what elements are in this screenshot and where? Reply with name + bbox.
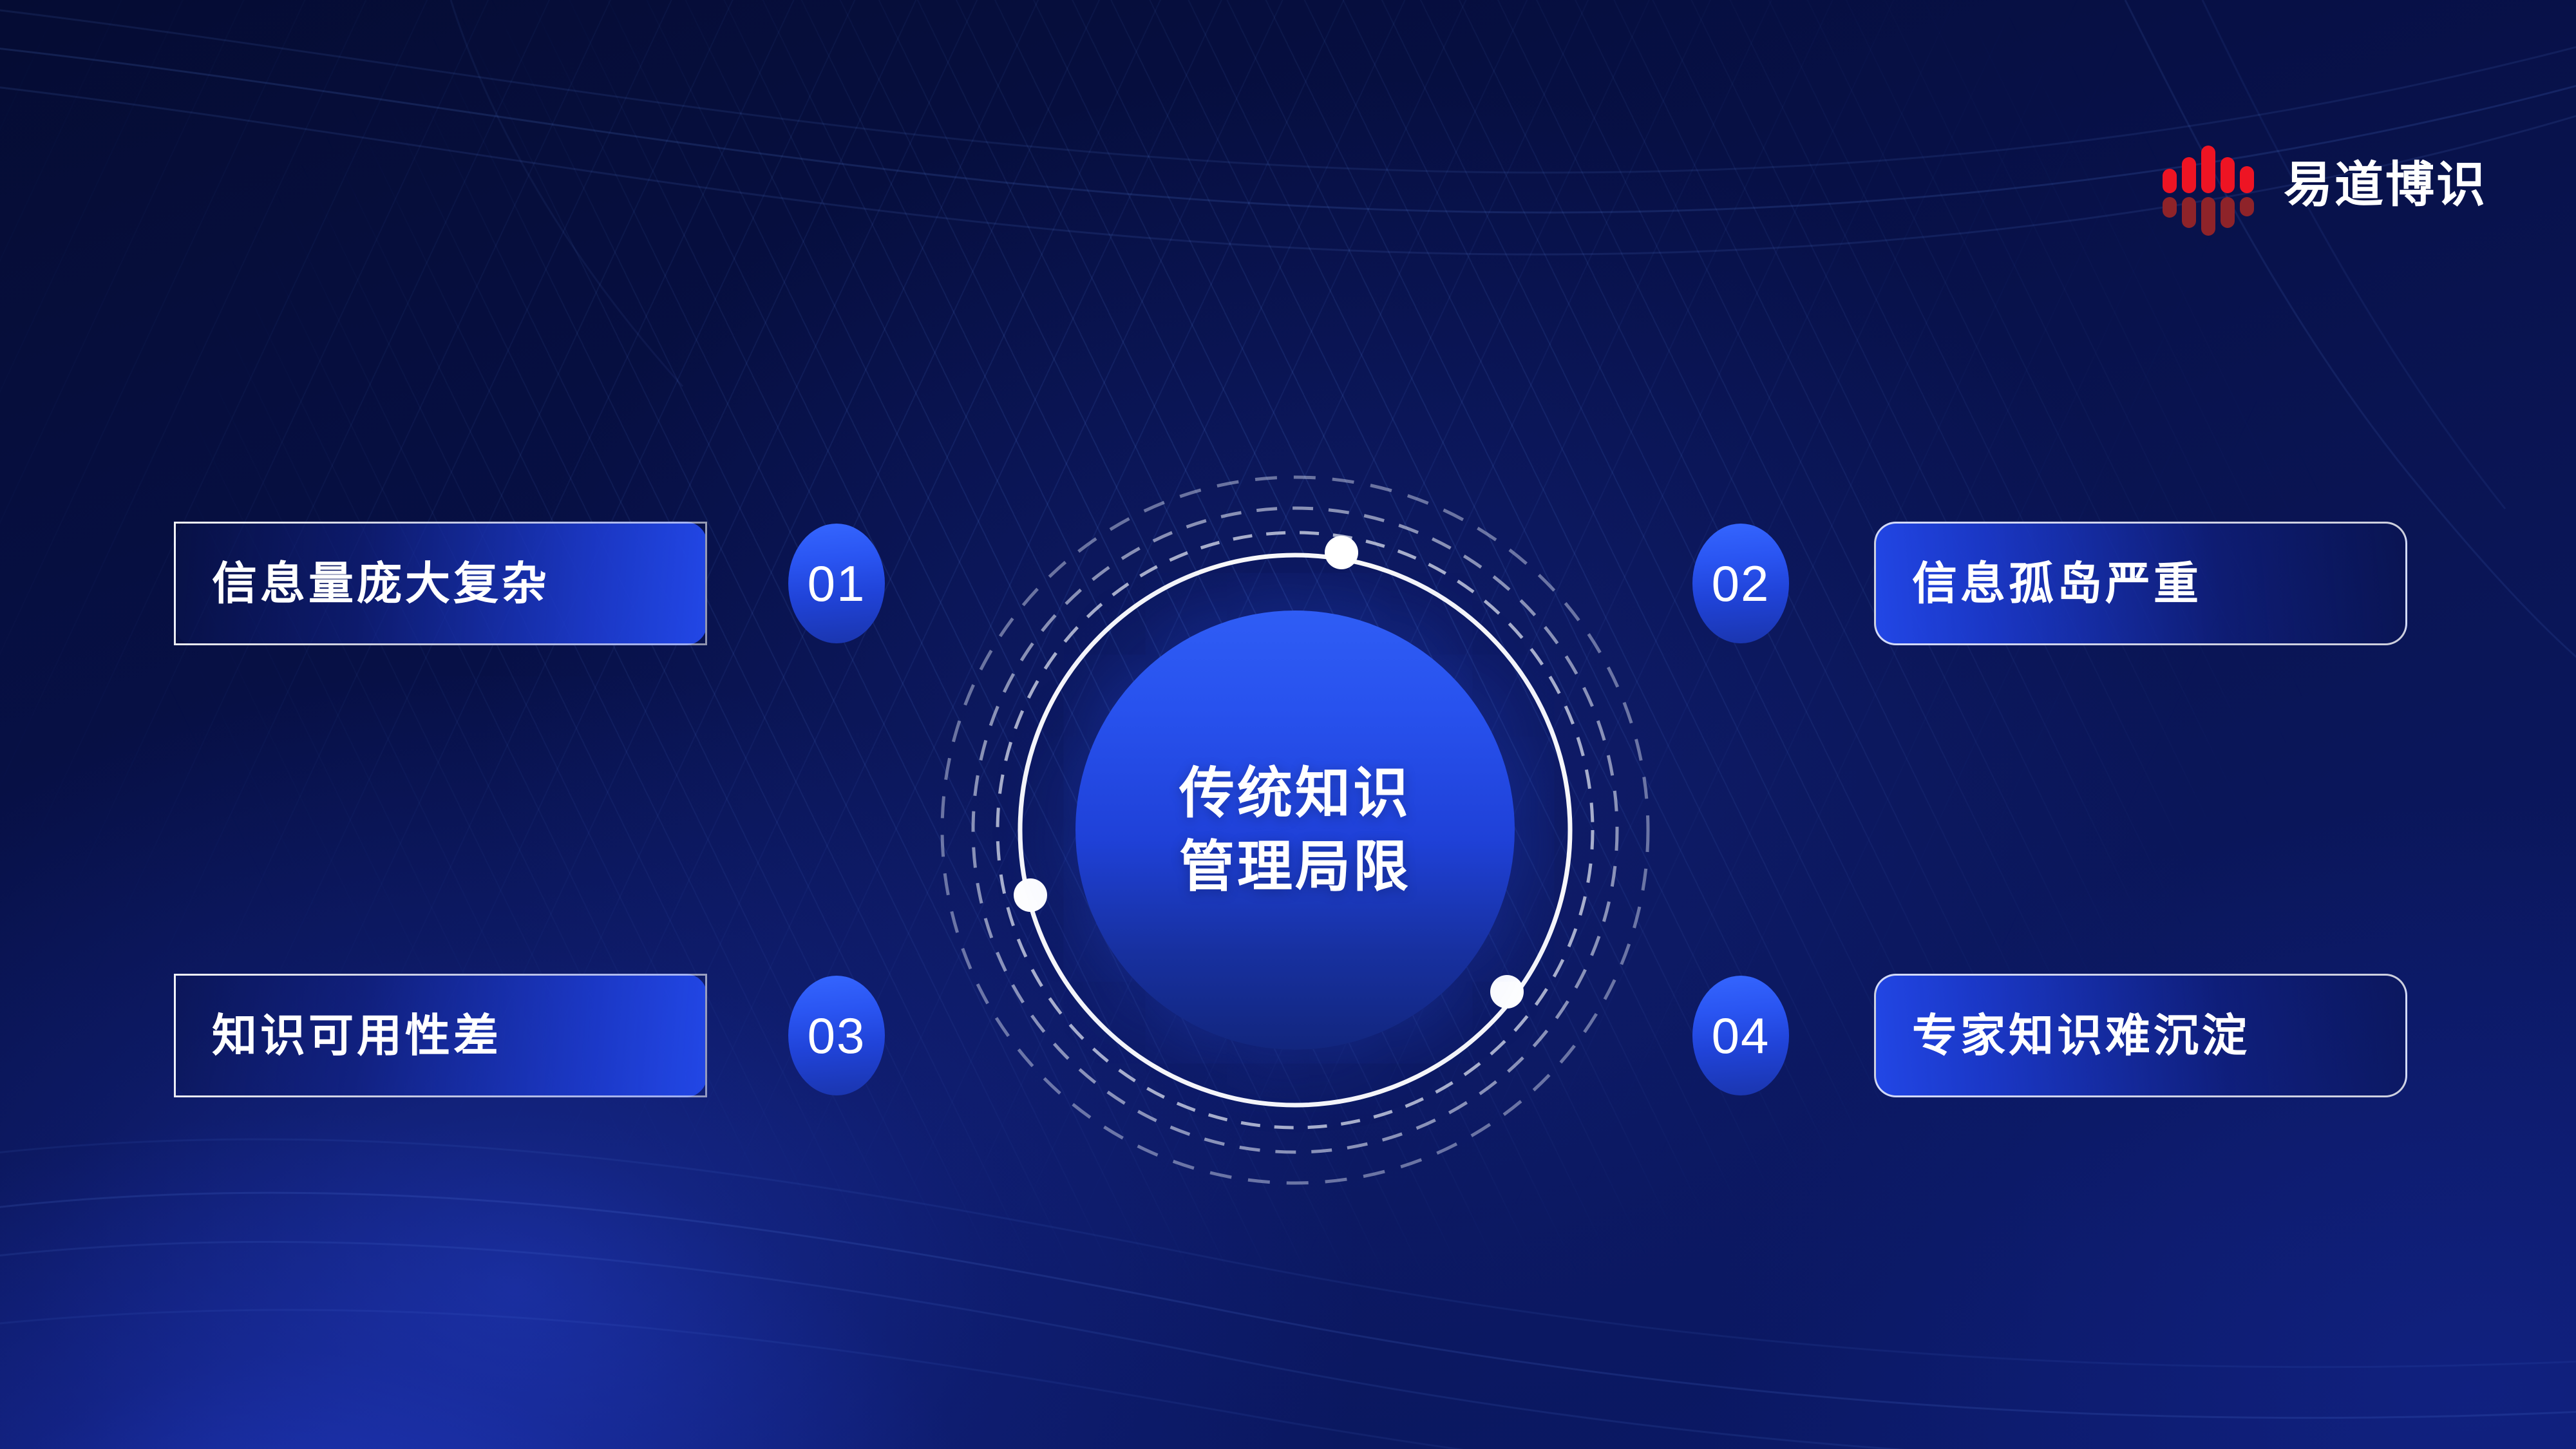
item-number-03: 03 — [808, 1010, 866, 1061]
item-badge-02[interactable]: 02 — [1692, 524, 1789, 643]
center-line-1: 传统知识 — [1179, 762, 1411, 824]
center-line-2: 管理局限 — [1179, 830, 1411, 904]
item-label-01: 信息量庞大复杂 — [212, 561, 550, 606]
item-number-02: 02 — [1712, 558, 1770, 609]
item-label-02: 信息孤岛严重 — [1912, 561, 2202, 606]
slide-canvas: 易道博识 传统知识 管理局限 信息量庞大复杂 01 02 信息孤岛严重 — [0, 0, 2576, 1449]
orbit-node-top — [1325, 536, 1358, 569]
orbit-node-left — [1014, 878, 1047, 912]
item-card-02[interactable]: 信息孤岛严重 — [1874, 522, 2407, 645]
item-badge-03[interactable]: 03 — [788, 976, 885, 1095]
item-label-03: 知识可用性差 — [212, 1013, 502, 1058]
item-card-01[interactable]: 信息量庞大复杂 — [174, 522, 707, 645]
item-number-01: 01 — [808, 558, 866, 609]
brand-logo: 易道博识 — [2163, 143, 2487, 228]
item-card-04[interactable]: 专家知识难沉淀 — [1874, 974, 2407, 1097]
brand-name: 易道博识 — [2284, 161, 2487, 210]
center-core-circle: 传统知识 管理局限 — [1075, 611, 1515, 1050]
item-label-04: 专家知识难沉淀 — [1912, 1013, 2250, 1058]
item-badge-01[interactable]: 01 — [788, 524, 885, 643]
item-card-03[interactable]: 知识可用性差 — [174, 974, 707, 1097]
item-number-04: 04 — [1712, 1010, 1770, 1061]
item-badge-04[interactable]: 04 — [1692, 976, 1789, 1095]
center-core-text: 传统知识 管理局限 — [1179, 757, 1411, 904]
orbit-node-bottom-right — [1490, 975, 1524, 1009]
waveform-bars-icon — [2163, 143, 2257, 228]
